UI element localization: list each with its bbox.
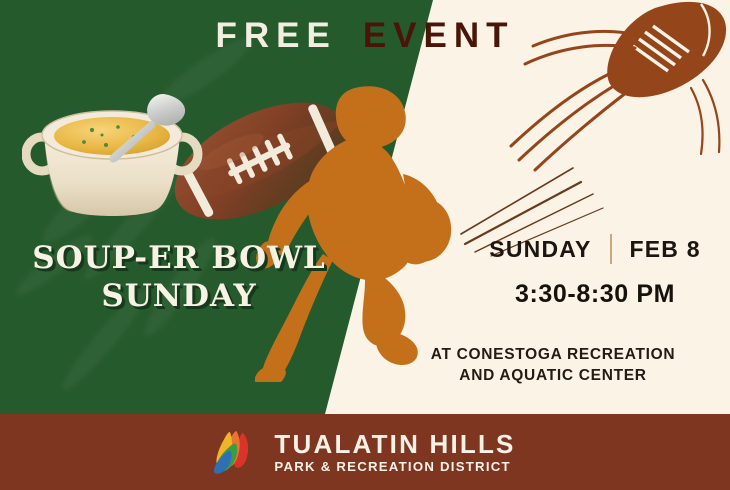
- event-time: 3:30-8:30 PM: [470, 280, 720, 309]
- headline-line-1: SOUP-ER BOWL: [32, 240, 325, 276]
- venue-line-2: AND AQUATIC CENTER: [398, 366, 708, 387]
- date-divider: [610, 234, 612, 264]
- org-logotype: TUALATIN HILLS PARK & RECREATION DISTRIC…: [274, 431, 515, 473]
- free-label: FREE: [215, 16, 336, 55]
- header-banner: FREEEVENT: [0, 16, 730, 56]
- org-name: TUALATIN HILLS: [274, 431, 515, 457]
- event-label: EVENT: [363, 16, 515, 55]
- event-date: FEB 8: [630, 236, 701, 263]
- event-day: SUNDAY: [489, 236, 591, 263]
- headline-line-2: SUNDAY: [14, 278, 344, 316]
- org-tagline: PARK & RECREATION DISTRICT: [274, 460, 515, 473]
- venue-line-1: AT CONESTOGA RECREATION: [431, 346, 676, 363]
- soup-bowl-illustration: [22, 88, 212, 228]
- flyer-canvas: FREEEVENT SOUP-ER BOWL SUNDAY SUNDAY FEB…: [0, 0, 730, 490]
- event-venue: AT CONESTOGA RECREATION AND AQUATIC CENT…: [398, 345, 708, 387]
- tualatin-hills-logo-icon: [214, 429, 262, 475]
- page-title: SOUP-ER BOWL SUNDAY: [14, 240, 344, 316]
- footer-bar: TUALATIN HILLS PARK & RECREATION DISTRIC…: [0, 414, 730, 490]
- running-football-player-silhouette: [255, 82, 475, 382]
- event-date-row: SUNDAY FEB 8: [470, 234, 720, 264]
